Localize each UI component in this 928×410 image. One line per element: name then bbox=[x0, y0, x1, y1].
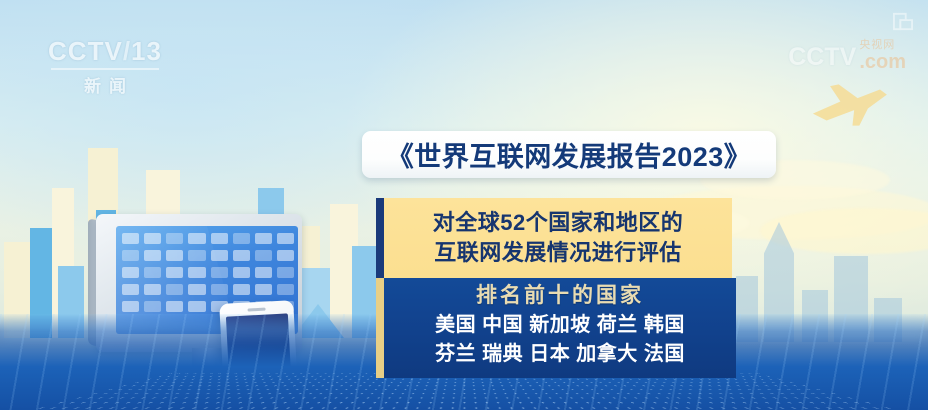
phone-speaker bbox=[248, 308, 266, 312]
ranking-accent-bar bbox=[376, 278, 384, 378]
channel-logo-sub: 新闻 bbox=[44, 72, 166, 97]
channel-logo: CCTV/13 新闻 bbox=[44, 36, 166, 97]
page-title: 《世界互联网发展报告2023》 bbox=[387, 135, 752, 174]
report-title-banner: 《世界互联网发展报告2023》 bbox=[362, 131, 776, 178]
summary-panel: 对全球52个国家和地区的 互联网发展情况进行评估 bbox=[384, 198, 732, 278]
country-row-2: 芬兰 瑞典 日本 加拿大 法国 bbox=[435, 340, 685, 368]
ranking-heading: 排名前十的国家 bbox=[476, 281, 644, 311]
cctv-com-watermark: CCTV 央视网 .com bbox=[788, 40, 906, 72]
channel-logo-number: 13 bbox=[131, 36, 162, 66]
country-row-1: 美国 中国 新加坡 荷兰 韩国 bbox=[435, 311, 685, 339]
watermark-domain: .com bbox=[859, 52, 906, 72]
broadcast-frame: 《世界互联网发展报告2023》 对全球52个国家和地区的 互联网发展情况进行评估… bbox=[0, 0, 928, 410]
summary-line-1: 对全球52个国家和地区的 bbox=[433, 209, 683, 237]
watermark-chinese: 央视网 bbox=[859, 40, 906, 51]
picture-in-picture-icon[interactable] bbox=[892, 12, 914, 31]
summary-line-2: 互联网发展情况进行评估 bbox=[434, 239, 682, 267]
ranking-panel: 排名前十的国家 美国 中国 新加坡 荷兰 韩国 芬兰 瑞典 日本 加拿大 法国 bbox=[384, 278, 736, 378]
logo-divider bbox=[51, 68, 159, 70]
watermark-brand: CCTV bbox=[788, 43, 856, 72]
channel-logo-brand: CCTV bbox=[48, 36, 123, 66]
